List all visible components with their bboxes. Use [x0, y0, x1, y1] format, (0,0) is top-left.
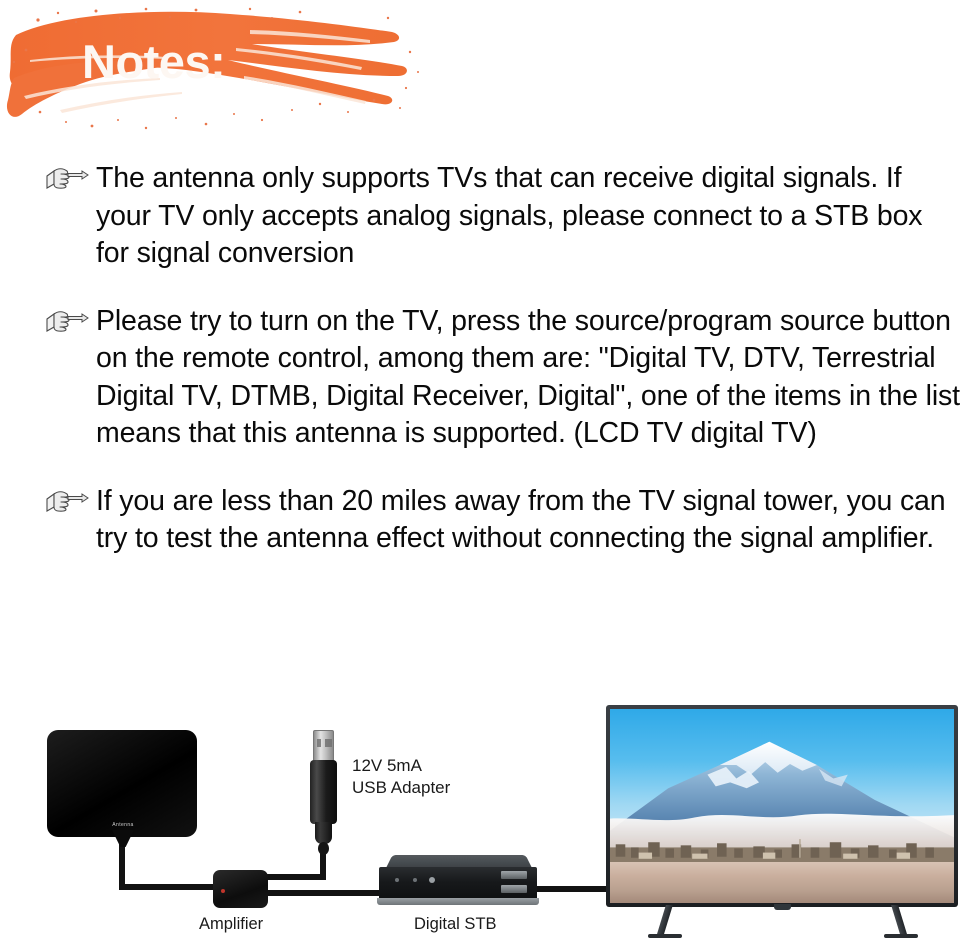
tv-stand-left	[656, 905, 673, 937]
amplifier-to-stb-cable	[262, 890, 384, 896]
antenna-brand-logo: Antenna	[108, 822, 138, 831]
note-item: The antenna only supports TVs that can r…	[44, 160, 960, 273]
tv-scene-mountain	[610, 732, 954, 848]
pointing-hand-icon	[44, 164, 90, 194]
amplifier-led-indicator	[221, 889, 225, 893]
note-text: The antenna only supports TVs that can r…	[96, 160, 960, 273]
stb-to-tv-cable	[532, 886, 616, 892]
note-text: If you are less than 20 miles away from …	[96, 483, 960, 558]
stb-card-slots	[501, 871, 527, 895]
antenna-cable-horizontal	[119, 884, 219, 890]
note-item: If you are less than 20 miles away from …	[44, 483, 960, 558]
pointing-hand-icon	[44, 307, 90, 337]
tv-foot-right	[884, 934, 918, 938]
stb-base-plate	[377, 898, 539, 905]
usb-adapter-label: 12V 5mA USB Adapter	[352, 755, 450, 799]
usb-metal-shell	[313, 730, 334, 762]
notes-list: The antenna only supports TVs that can r…	[44, 160, 960, 588]
pointing-hand-icon	[44, 487, 90, 517]
stb-indicator-lights	[395, 878, 443, 883]
connection-diagram: Antenna Amplifier 12V 5mA USB Adapter Di…	[0, 690, 960, 942]
antenna-cable-tab	[112, 830, 134, 847]
antenna-cable-vertical	[119, 842, 125, 888]
usb-connector	[310, 730, 337, 855]
usb-plug-neck	[315, 822, 332, 844]
usb-cable-horizontal	[262, 874, 326, 880]
tv-stand-right	[891, 905, 908, 937]
amplifier-label: Amplifier	[199, 915, 263, 934]
note-text: Please try to turn on the TV, press the …	[96, 303, 960, 453]
tv-bezel	[606, 705, 958, 907]
notes-banner: Notes:	[0, 0, 430, 140]
note-item: Please try to turn on the TV, press the …	[44, 303, 960, 453]
stb-label: Digital STB	[414, 915, 497, 934]
tv-screen	[610, 709, 954, 903]
page-title: Notes:	[82, 38, 225, 85]
signal-amplifier	[213, 870, 268, 908]
tv-scene-lake	[610, 862, 954, 903]
flat-tv-antenna	[47, 730, 197, 837]
television	[606, 705, 958, 907]
digital-set-top-box	[375, 852, 542, 909]
tv-foot-left	[648, 934, 682, 938]
usb-plug-body	[310, 760, 337, 824]
tv-logo-nub	[774, 904, 791, 910]
usb-strain-relief	[318, 842, 329, 855]
